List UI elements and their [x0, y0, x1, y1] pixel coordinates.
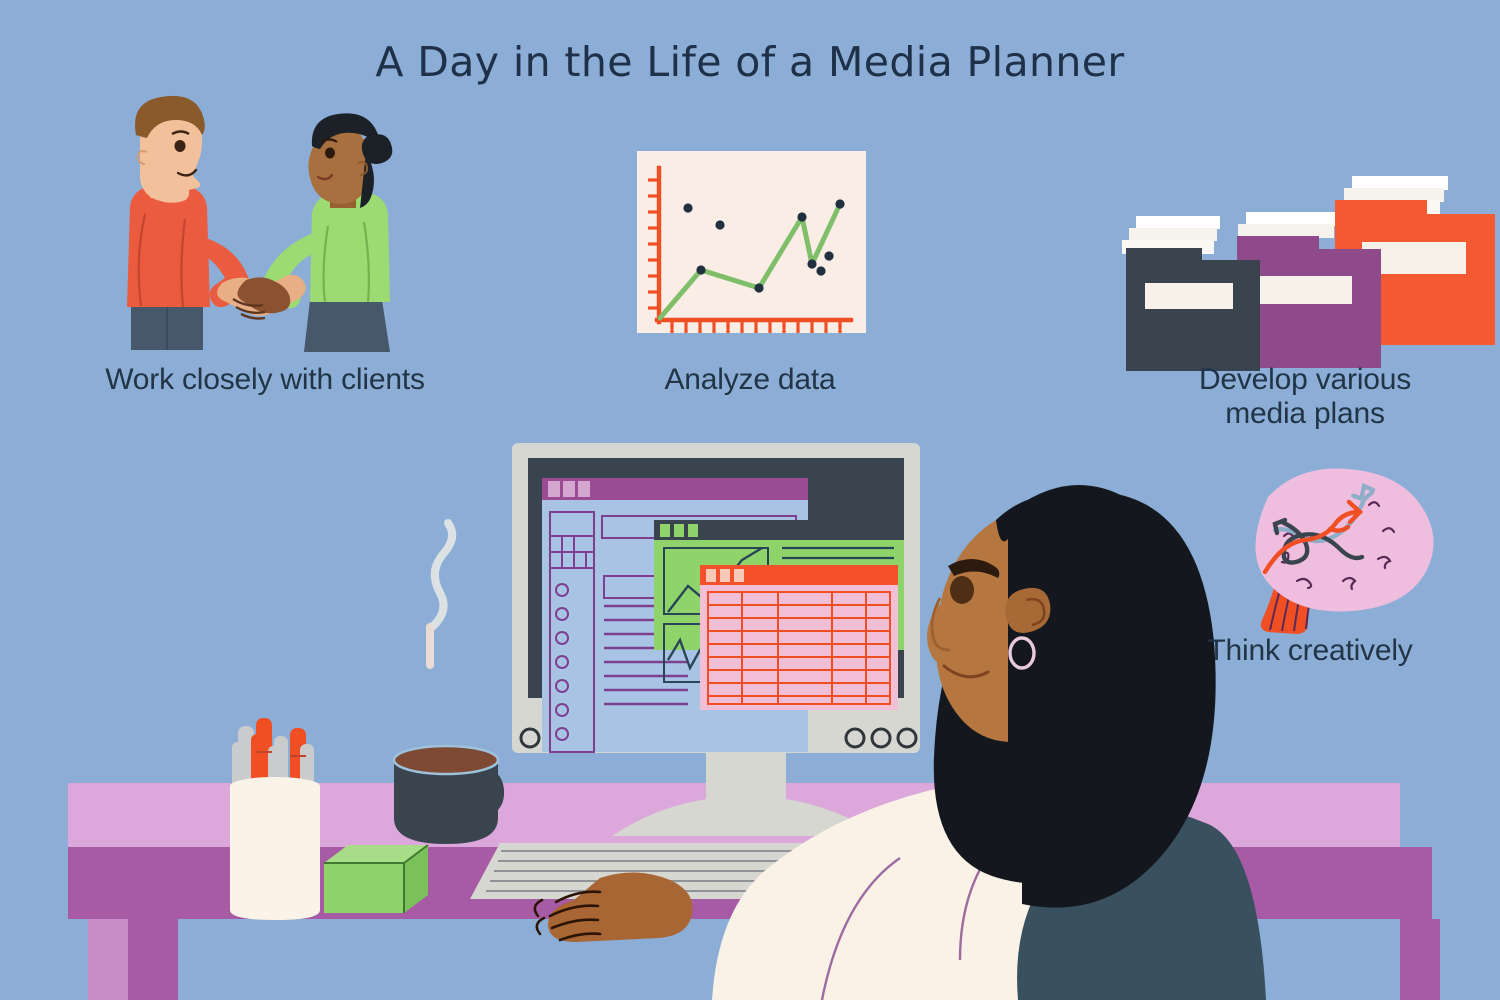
- handshake-icon: [127, 96, 392, 352]
- line-chart-icon: [637, 151, 866, 333]
- monitor: [512, 443, 920, 836]
- pen-holder: [230, 718, 320, 920]
- label-develop-media-plans: Develop various media plans: [1140, 363, 1470, 430]
- label-think-creatively: Think creatively: [1150, 634, 1470, 668]
- label-analyze-data: Analyze data: [600, 363, 900, 397]
- green-box: [324, 845, 428, 913]
- illustration-canvas: A Day in the Life of a Media Planner: [0, 0, 1500, 1000]
- coffee-mug: [394, 523, 504, 844]
- folders-icon: [1122, 176, 1495, 371]
- brain-icon: [1255, 469, 1433, 634]
- label-work-closely-with-clients: Work closely with clients: [30, 363, 500, 397]
- illustration-svg: [0, 0, 1500, 1000]
- spreadsheet-window: [700, 565, 898, 710]
